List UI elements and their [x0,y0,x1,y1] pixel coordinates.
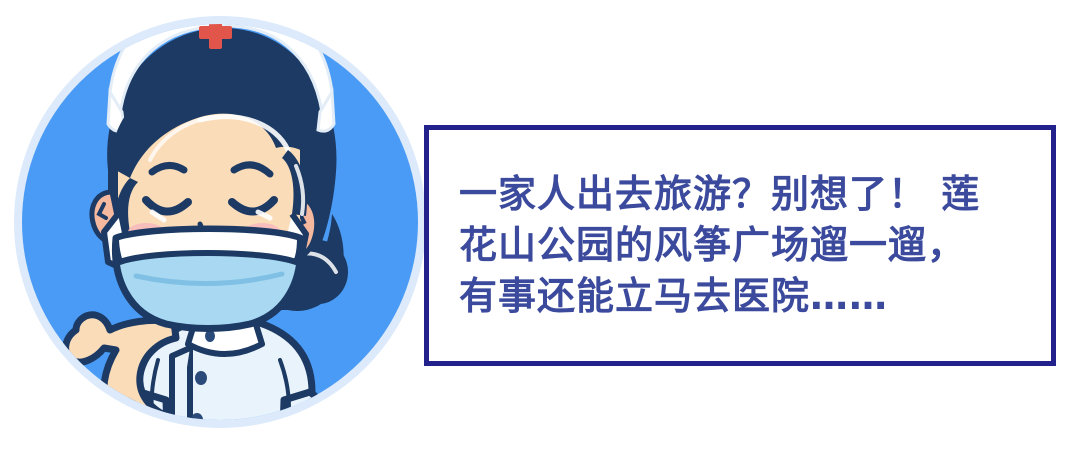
caption-line-2: 花山公园的风筝广场遛一遛， [459,220,1025,271]
screenshot-root: 一家人出去旅游？别想了！ 莲 花山公园的风筝广场遛一遛， 有事还能立马去医院…… [0,0,1080,464]
caption-frame: 一家人出去旅游？别想了！ 莲 花山公园的风筝广场遛一遛， 有事还能立马去医院…… [424,125,1056,366]
caption-line-1: 一家人出去旅游？别想了！ 莲 [459,169,1025,220]
nurse-illustration [0,0,440,464]
caption-line-3: 有事还能立马去医院…… [459,271,1025,322]
caption-text-block: 一家人出去旅游？别想了！ 莲 花山公园的风筝广场遛一遛， 有事还能立马去医院…… [429,130,1051,361]
